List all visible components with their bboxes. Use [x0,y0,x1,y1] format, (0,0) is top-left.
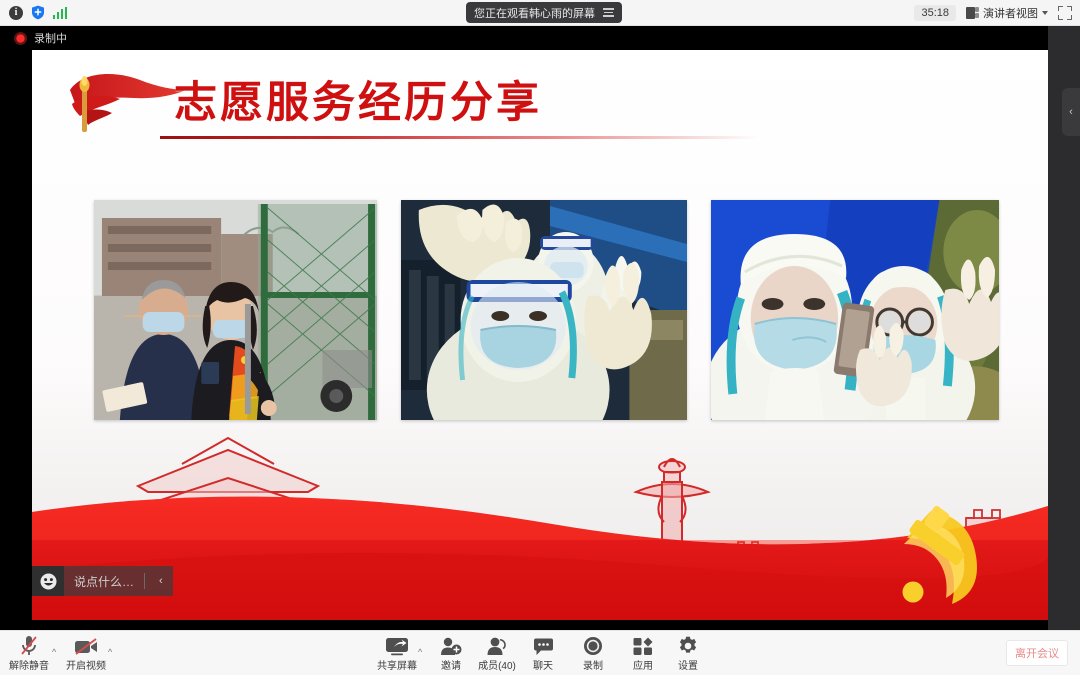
video-options-chevron-icon[interactable]: ^ [108,647,112,657]
info-icon[interactable]: i [8,5,24,21]
chevron-left-icon: ‹ [1069,106,1073,118]
share-screen-label: 共享屏幕 [377,657,417,672]
right-side-panel: ‹ [1048,26,1080,630]
photo-volunteers-ppe-peace-sign [401,200,687,420]
leave-meeting-button[interactable]: 离开会议 [1006,640,1068,666]
slide-title-block: 志愿服务经历分享 [62,60,782,150]
top-bar-right-group: 35:18 演讲者视图 [914,0,1080,26]
security-shield-icon[interactable] [30,5,46,21]
slide-canvas: 志愿服务经历分享 [32,50,1048,620]
view-mode-label: 演讲者视图 [983,5,1038,21]
audio-options-chevron-icon[interactable]: ^ [52,647,56,657]
chevron-left-icon[interactable]: ‹ [155,575,167,587]
unmute-label: 解除静音 [9,657,49,672]
page-title: 志愿服务经历分享 [174,68,542,130]
tiananmen-greatwall-illustration [32,420,1048,620]
settings-button[interactable]: 设置 [659,634,717,672]
emoji-smiley-icon[interactable] [32,566,64,596]
start-video-button[interactable]: 开启视频 [57,634,115,672]
view-mode-selector[interactable]: 演讲者视图 [966,5,1048,21]
slide-chat-input[interactable]: 说点什么… ‹ [32,566,173,596]
invite-label: 邀请 [441,657,461,672]
photo-row [94,200,999,420]
person-add-icon [440,634,462,656]
photo-two-volunteers-ppe-selfie [711,200,999,420]
leave-meeting-label: 离开会议 [1015,645,1059,661]
gear-icon [678,634,698,656]
record-circle-icon [583,634,603,656]
fullscreen-icon[interactable] [1058,6,1072,20]
viewing-screen-text: 您正在观看韩心雨的屏幕 [474,5,595,21]
title-underline [160,136,760,139]
chat-bubble-icon [533,634,554,656]
share-screen-icon [385,634,409,656]
meeting-window: i 您正在观看韩心雨的屏幕 35:18 演讲者视图 [0,0,1080,675]
chat-input-placeholder: 说点什么… [74,573,134,590]
camera-off-icon [74,634,98,656]
unmute-button[interactable]: 解除静音 [0,634,58,672]
red-flag-torch-icon [62,68,192,138]
participants-label: 成员(40) [478,657,516,672]
meeting-timer: 35:18 [914,5,956,21]
panel-collapse-tab[interactable]: ‹ [1062,88,1080,136]
top-bar-status-icons: i [0,5,68,21]
chat-input-box[interactable]: 说点什么… ‹ [64,566,173,596]
hamburger-menu-icon[interactable] [603,8,614,17]
shared-slide[interactable]: 志愿服务经历分享 [32,50,1048,620]
speaker-view-icon [966,7,979,19]
network-signal-icon[interactable] [52,5,68,21]
recording-label: 录制中 [34,30,67,46]
apps-label: 应用 [633,657,653,672]
top-bar: i 您正在观看韩心雨的屏幕 35:18 演讲者视图 [0,0,1080,26]
chat-label: 聊天 [533,657,553,672]
apps-grid-icon [633,634,653,656]
photo-volunteer-helping-elderly [94,200,377,420]
viewing-screen-notice[interactable]: 您正在观看韩心雨的屏幕 [466,2,622,23]
participants-icon [486,634,508,656]
chat-divider [144,573,145,589]
record-label: 录制 [583,657,603,672]
start-video-label: 开启视频 [66,657,106,672]
chevron-down-icon[interactable] [1042,11,1048,15]
recording-indicator-bar: 录制中 [0,26,1048,50]
microphone-muted-icon [19,634,39,656]
info-icon-glyph: i [9,6,23,20]
meeting-toolbar: 解除静音 ^ 开启视频 ^ 共享屏幕 [0,630,1080,675]
settings-label: 设置 [678,657,698,672]
recording-dot-icon [14,32,27,45]
shared-screen-stage: 录制中 [0,26,1080,630]
